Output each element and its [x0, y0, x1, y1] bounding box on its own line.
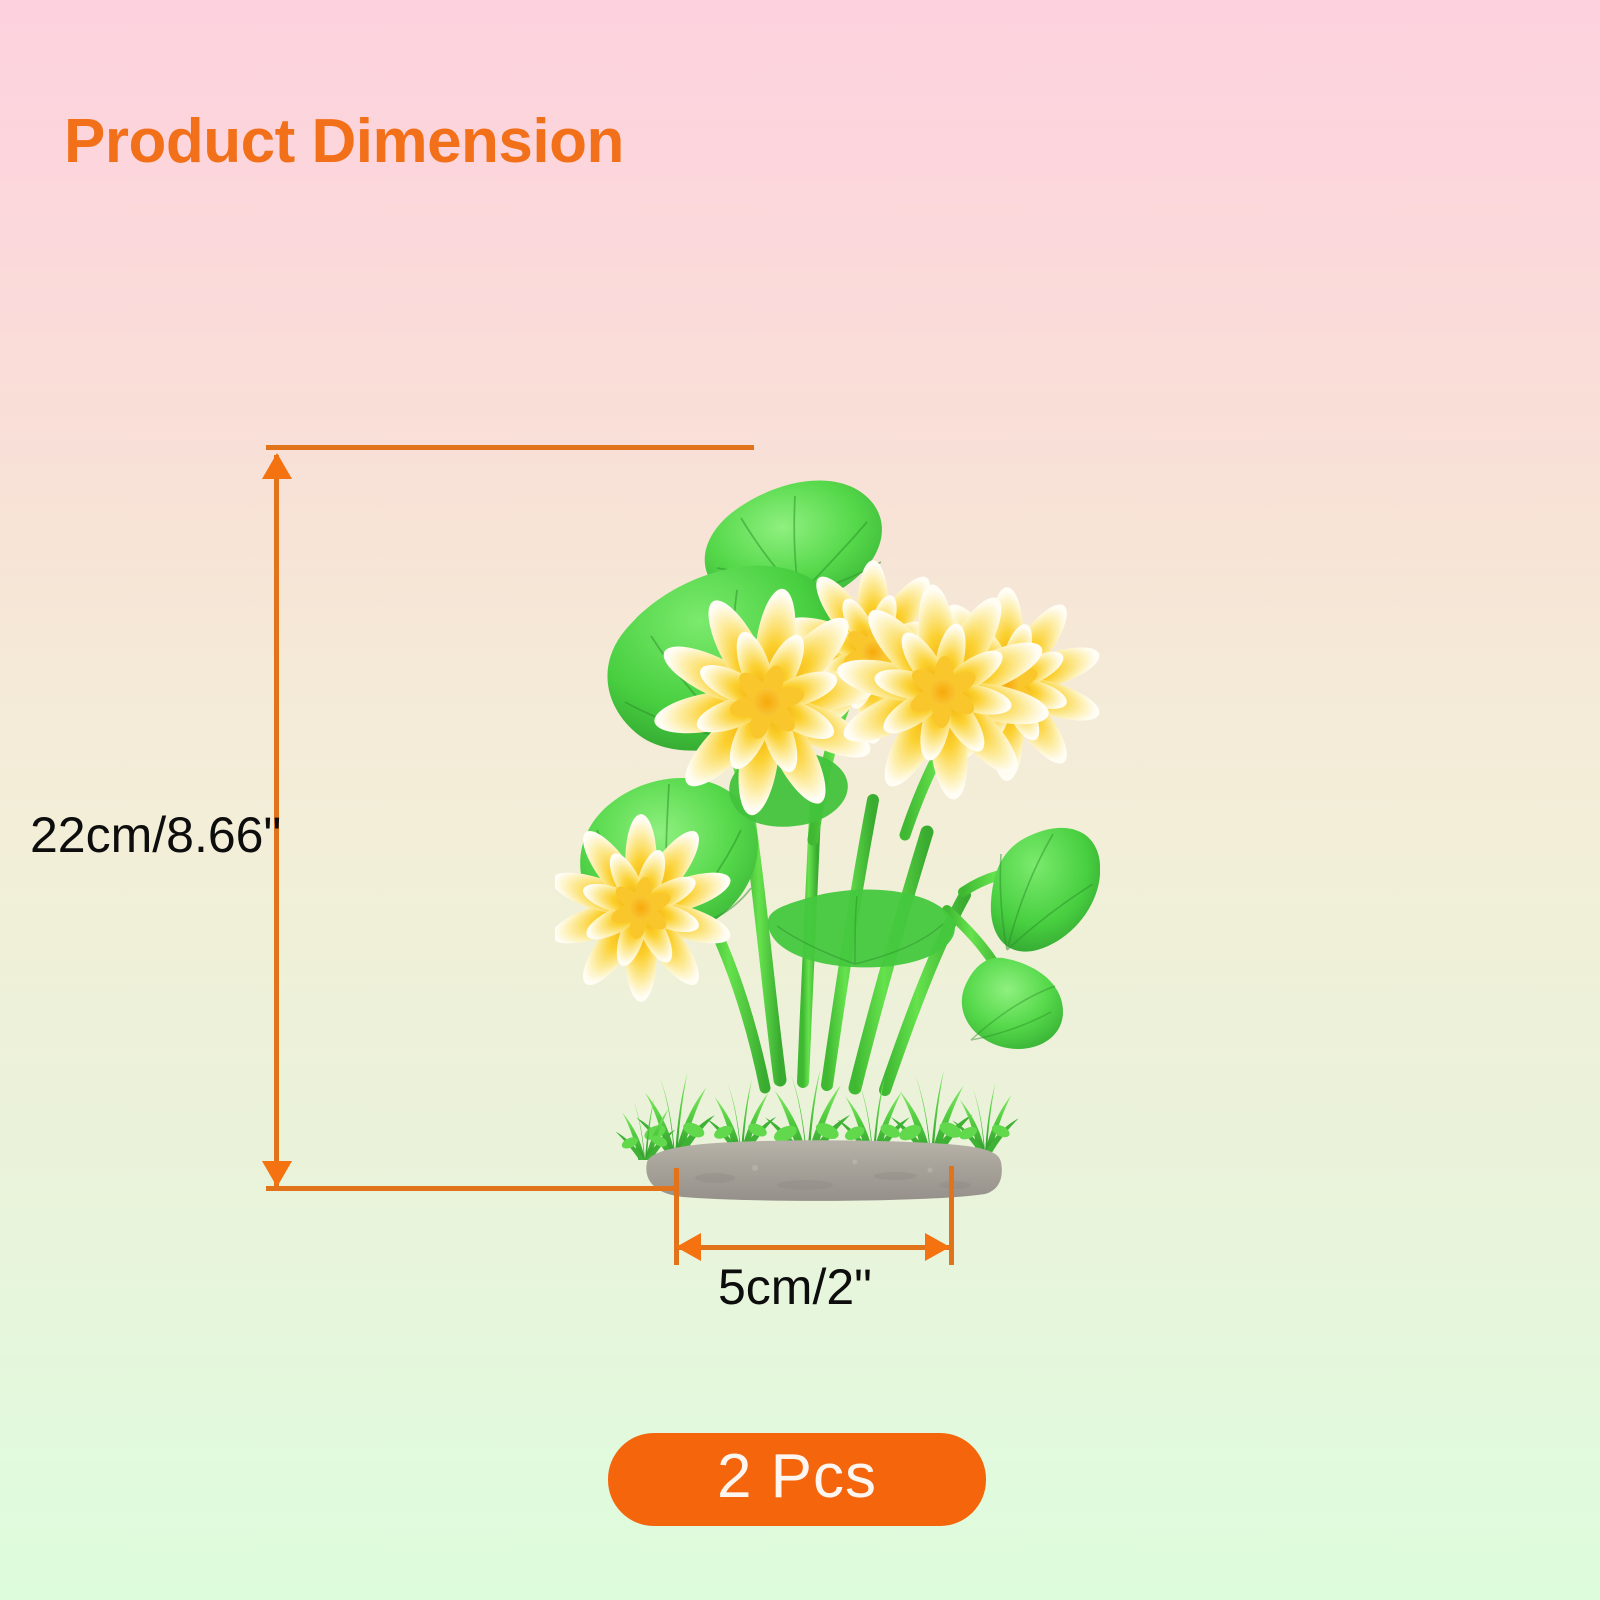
quantity-badge: 2 Pcs — [608, 1433, 986, 1526]
height-arrow-up-icon — [262, 453, 292, 479]
height-arrow-down-icon — [262, 1161, 292, 1187]
width-arrow-right-icon — [925, 1233, 950, 1261]
height-dimension-label: 22cm/8.66" — [30, 806, 281, 864]
width-dimension-line — [678, 1245, 950, 1250]
product-image — [555, 440, 1100, 1205]
height-extension-line-bottom — [266, 1186, 678, 1191]
width-dimension-label: 5cm/2" — [718, 1258, 872, 1316]
height-extension-line-top — [266, 445, 754, 450]
quantity-badge-label: 2 Pcs — [717, 1446, 877, 1513]
width-arrow-left-icon — [676, 1233, 701, 1261]
infographic-canvas: Product Dimension — [0, 0, 1600, 1600]
page-title: Product Dimension — [64, 106, 624, 177]
